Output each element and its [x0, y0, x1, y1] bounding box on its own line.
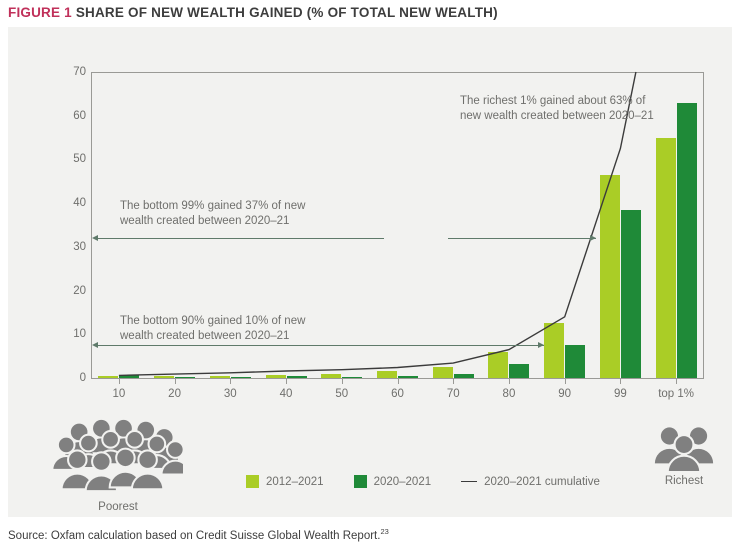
x-tick-20 [175, 379, 176, 384]
annotation-richest-line [448, 238, 596, 239]
y-tick-0: 0 [46, 372, 86, 384]
y-tick-40: 40 [46, 197, 86, 209]
figure-number: FIGURE 1 [8, 5, 72, 20]
annotation-richest-text: The richest 1% gained about 63% of new w… [460, 94, 675, 124]
x-label-top1: top 1% [658, 388, 694, 400]
x-label-70: 70 [447, 388, 460, 400]
x-label-60: 60 [391, 388, 404, 400]
x-tick-60 [398, 379, 399, 384]
annotation-90-arrowhead-right [538, 342, 544, 348]
source-text: Source: Oxfam calculation based on Credi… [8, 530, 380, 542]
x-tick-99 [620, 379, 621, 384]
x-tick-30 [230, 379, 231, 384]
legend-line-icon [461, 481, 477, 482]
x-label-50: 50 [335, 388, 348, 400]
x-label-99: 99 [614, 388, 627, 400]
x-tick-50 [342, 379, 343, 384]
figure-title-text: SHARE OF NEW WEALTH GAINED (% OF TOTAL N… [76, 5, 498, 20]
group-icon [653, 424, 715, 472]
legend-item-2020-2021[interactable]: 2020–2021 [354, 475, 432, 488]
crowd-icon [53, 419, 183, 493]
x-tick-top1 [676, 379, 677, 384]
chart-panel: 70 60 50 40 30 20 10 0 10203040506070809… [8, 27, 732, 517]
poorest-people-icon [53, 419, 183, 493]
x-tick-80 [509, 379, 510, 384]
legend-swatch-light-green-icon [246, 475, 259, 488]
legend-item-cumulative[interactable]: 2020–2021 cumulative [461, 476, 600, 488]
x-label-20: 20 [168, 388, 181, 400]
y-tick-10: 10 [46, 328, 86, 340]
x-label-30: 30 [224, 388, 237, 400]
x-tick-90 [565, 379, 566, 384]
legend-label-2012-2021: 2012–2021 [266, 476, 324, 488]
x-tick-70 [453, 379, 454, 384]
x-label-80: 80 [503, 388, 516, 400]
x-tick-10 [119, 379, 120, 384]
richest-label: Richest [665, 475, 703, 487]
x-label-10: 10 [112, 388, 125, 400]
annotation-richest-arrowhead [590, 235, 596, 241]
y-tick-20: 20 [46, 285, 86, 297]
annotation-99-line [94, 238, 384, 239]
source-footnote: 23 [380, 527, 388, 536]
annotation-90-line [94, 345, 544, 346]
legend-item-2012-2021[interactable]: 2012–2021 [246, 475, 324, 488]
y-tick-50: 50 [46, 153, 86, 165]
richest-people-icon [653, 424, 715, 472]
legend: 2012–2021 2020–2021 2020–2021 cumulative [246, 475, 600, 488]
x-tick-40 [286, 379, 287, 384]
y-axis: 70 60 50 40 30 20 10 0 [38, 27, 86, 427]
x-label-90: 90 [558, 388, 571, 400]
x-label-40: 40 [280, 388, 293, 400]
source-note: Source: Oxfam calculation based on Credi… [8, 527, 389, 542]
annotation-90-text: The bottom 90% gained 10% of new wealth … [120, 314, 335, 344]
legend-swatch-dark-green-icon [354, 475, 367, 488]
legend-label-cumulative: 2020–2021 cumulative [484, 476, 600, 488]
annotation-90-arrowhead [92, 342, 98, 348]
poorest-label: Poorest [98, 501, 138, 513]
annotation-99-text: The bottom 99% gained 37% of new wealth … [120, 199, 335, 229]
y-tick-60: 60 [46, 110, 86, 122]
y-tick-30: 30 [46, 241, 86, 253]
y-tick-70: 70 [46, 66, 86, 78]
figure-page: FIGURE 1 SHARE OF NEW WEALTH GAINED (% O… [0, 0, 740, 547]
page-title: FIGURE 1 SHARE OF NEW WEALTH GAINED (% O… [8, 5, 498, 20]
legend-label-2020-2021: 2020–2021 [374, 476, 432, 488]
annotation-99-arrowhead [92, 235, 98, 241]
